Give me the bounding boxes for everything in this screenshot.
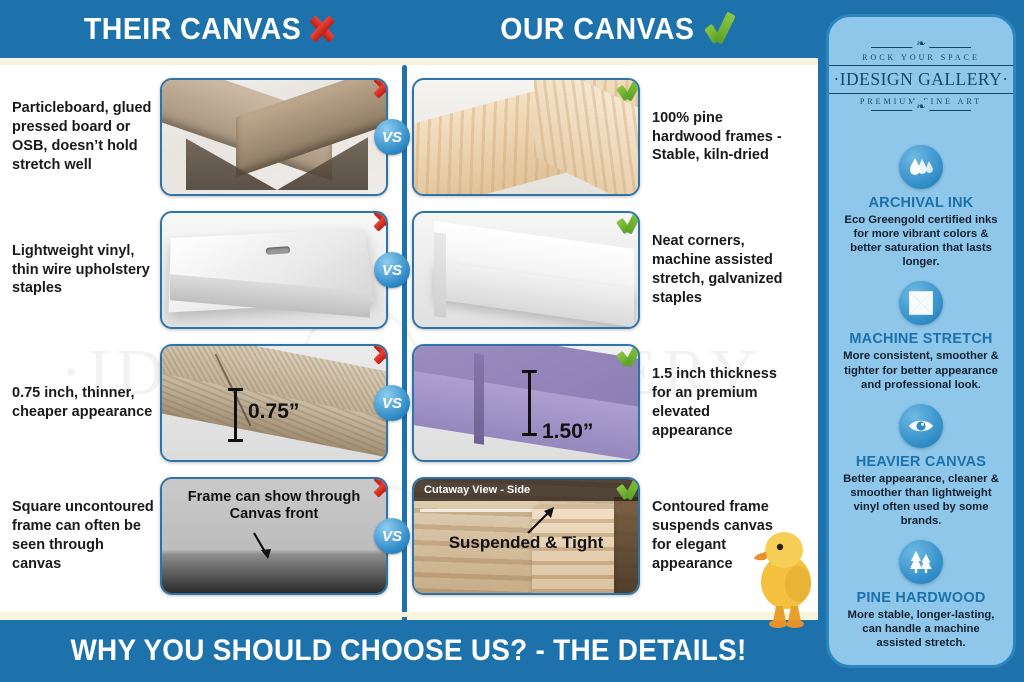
vs-badge: VS: [374, 385, 410, 421]
cross-icon: [376, 477, 388, 495]
their-photo-frame-show-through-photo: Frame can show through Canvas front: [160, 477, 388, 595]
comparison-row: Lightweight vinyl, thin wire upholstery …: [0, 210, 818, 330]
feature-body: Better appearance, cleaner & smoother th…: [837, 472, 1005, 528]
check-icon: [615, 211, 640, 234]
their-photo-vinyl-corner-staple-photo: [160, 211, 388, 329]
stretched-canvas-icon: [899, 281, 943, 325]
photo-artwork: [162, 213, 386, 327]
eye-icon: [899, 404, 943, 448]
cross-icon: [376, 211, 388, 229]
arrow-up-right-icon: [526, 505, 560, 535]
our-feature-text: 100% pine hardwood frames - Stable, kiln…: [640, 109, 798, 166]
comparison-infographic: THEIR CANVAS OUR CANVAS ·IDESIGN GALLERY…: [0, 0, 1024, 682]
check-icon: [615, 477, 640, 500]
feature-body: More consistent, smoother & tighter for …: [837, 349, 1005, 391]
our-feature-text: 1.5 inch thickness for an premium elevat…: [640, 365, 798, 440]
header-titles: THEIR CANVAS OUR CANVAS: [0, 0, 818, 58]
vs-badge: VS: [374, 518, 410, 554]
photo-artwork: [414, 346, 638, 460]
feature-title: ARCHIVAL INK: [837, 195, 1005, 211]
footer-title: WHY YOU SHOULD CHOOSE US? - THE DETAILS!: [71, 634, 747, 668]
duckling-mascot-icon: [750, 520, 822, 630]
measure-bar-icon: [234, 388, 237, 442]
arrow-down-icon: [250, 531, 276, 565]
their-canvas-heading-label: THEIR CANVAS: [84, 11, 301, 47]
sidebar-feature-heavier-canvas: HEAVIER CANVAS Better appearance, cleane…: [837, 404, 1005, 528]
check-icon: [615, 78, 640, 101]
logo-flourish-bottom-icon: [861, 106, 981, 116]
footer-inner: WHY YOU SHOULD CHOOSE US? - THE DETAILS!: [0, 620, 818, 682]
our-canvas-heading: OUR CANVAS: [500, 11, 735, 47]
their-feature-text: 0.75 inch, thinner, cheaper appearance: [0, 384, 158, 422]
comparison-body: ·IDESIGN GALLERY· Particleboard, glued p…: [0, 65, 818, 617]
sidebar-feature-machine-stretch: MACHINE STRETCH More consistent, smoothe…: [837, 281, 1005, 391]
our-photo-thick-purple-canvas-photo: 1.50”: [412, 344, 640, 462]
photo-artwork: [414, 213, 638, 327]
suspended-tight-overlay: Suspended & Tight: [414, 533, 638, 553]
photo-artwork: [414, 80, 638, 194]
their-photo-thin-particleboard-thickness-photo: 0.75”: [160, 344, 388, 462]
water-drops-icon: [899, 145, 943, 189]
brand-logo: ROCK YOUR SPACE ·IDESIGN GALLERY· PREMIU…: [837, 25, 1005, 133]
comparison-row: 0.75 inch, thinner, cheaper appearance 0…: [0, 343, 818, 463]
cutaway-view-header: Cutaway View - Side: [414, 479, 638, 501]
our-canvas-heading-label: OUR CANVAS: [500, 11, 694, 47]
comparison-row: Particleboard, glued pressed board or OS…: [0, 77, 818, 197]
photo-artwork: [162, 80, 386, 194]
logo-flourish-top-icon: [861, 43, 981, 53]
cross-icon: [310, 16, 334, 42]
our-thickness-label: 1.50”: [542, 420, 593, 444]
sidebar-feature-archival-ink: ARCHIVAL INK Eco Greengold certified ink…: [837, 145, 1005, 269]
their-feature-text: Square uncontoured frame can often be se…: [0, 498, 158, 573]
feature-title: MACHINE STRETCH: [837, 331, 1005, 347]
their-feature-text: Lightweight vinyl, thin wire upholstery …: [0, 242, 158, 299]
sidebar: ROCK YOUR SPACE ·IDESIGN GALLERY· PREMIU…: [818, 0, 1024, 682]
their-thickness-label: 0.75”: [248, 400, 299, 424]
feature-title: HEAVIER CANVAS: [837, 454, 1005, 470]
their-canvas-heading: THEIR CANVAS: [84, 11, 334, 47]
feature-body: Eco Greengold certified inks for more vi…: [837, 213, 1005, 269]
check-icon: [704, 14, 735, 44]
cross-icon: [376, 78, 388, 96]
measure-bar-icon: [528, 370, 531, 436]
our-photo-neat-white-corner-photo: [412, 211, 640, 329]
feature-body: More stable, longer-lasting, can handle …: [837, 608, 1005, 650]
sidebar-feature-pine-hardwood: PINE HARDWOOD More stable, longer-lastin…: [837, 540, 1005, 650]
logo-tagline-top: ROCK YOUR SPACE: [862, 53, 980, 62]
logo-brand-name: ·IDESIGN GALLERY·: [827, 65, 1014, 94]
our-feature-text: Neat corners, machine assisted stretch, …: [640, 232, 798, 307]
comparison-row: Square uncontoured frame can often be se…: [0, 476, 818, 596]
sidebar-card: ROCK YOUR SPACE ·IDESIGN GALLERY· PREMIU…: [826, 14, 1016, 668]
our-photo-pine-hardwood-frame-photo: [412, 78, 640, 196]
our-photo-cutaway-side-view-photo: Cutaway View - Side Suspended & Tight: [412, 477, 640, 595]
check-icon: [615, 344, 640, 367]
pine-trees-icon: [899, 540, 943, 584]
frame-show-through-overlay: Frame can show through Canvas front: [162, 489, 386, 524]
their-photo-particleboard-frame-corner-photo: [160, 78, 388, 196]
feature-title: PINE HARDWOOD: [837, 590, 1005, 606]
their-feature-text: Particleboard, glued pressed board or OS…: [0, 99, 158, 174]
vs-badge: VS: [374, 119, 410, 155]
vs-badge: VS: [374, 252, 410, 288]
cross-icon: [376, 344, 388, 362]
